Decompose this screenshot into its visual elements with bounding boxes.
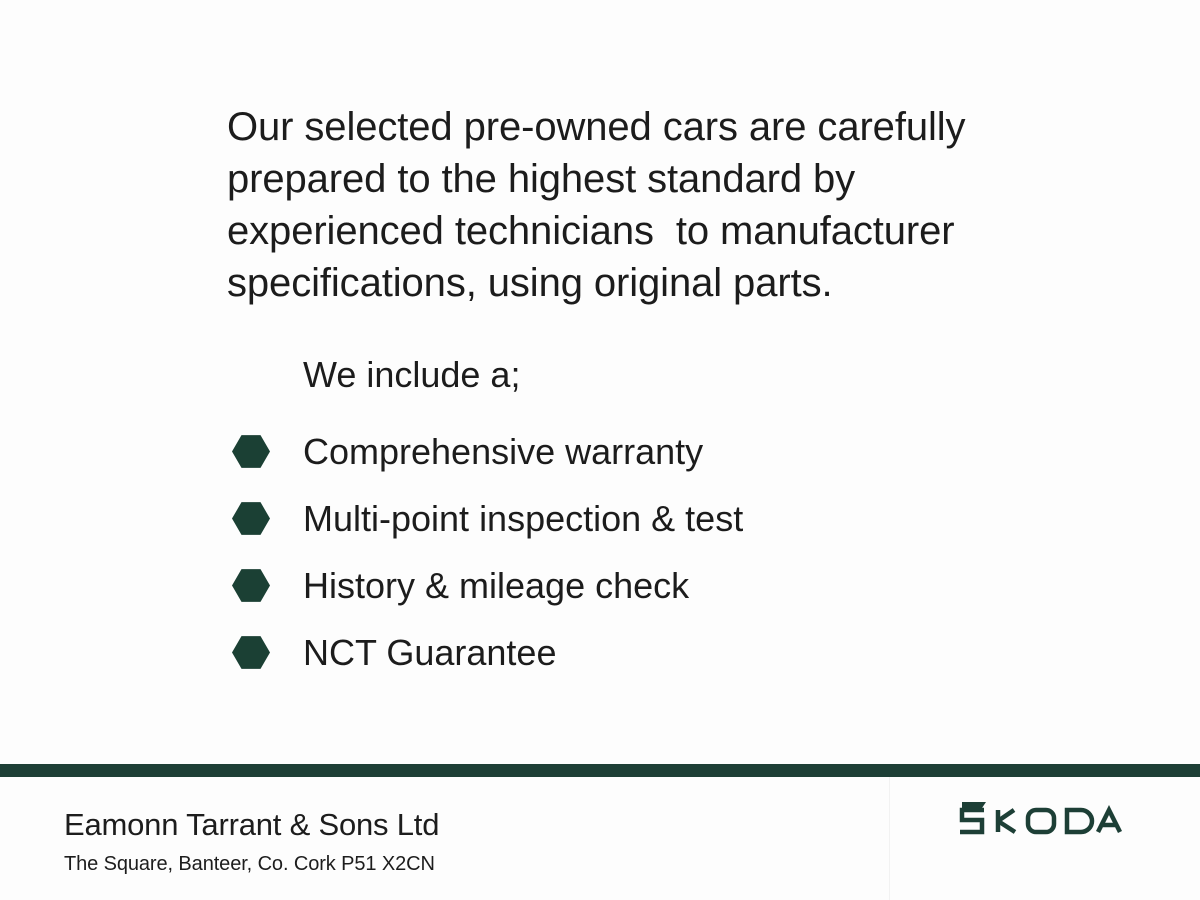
advert-page: Our selected pre-owned cars are carefull… — [0, 0, 1200, 900]
headline-line-4: specifications, using original parts. — [227, 257, 1017, 309]
footer-seam — [889, 777, 890, 900]
footer-divider — [0, 764, 1200, 777]
list-item-label: Multi-point inspection & test — [303, 497, 743, 541]
dealer-address: The Square, Banteer, Co. Cork P51 X2CN — [64, 851, 435, 877]
hexagon-bullet-icon — [232, 435, 270, 469]
dealer-name: Eamonn Tarrant & Sons Ltd — [64, 807, 439, 843]
headline-line-1: Our selected pre-owned cars are carefull… — [227, 101, 1017, 153]
main-content: Our selected pre-owned cars are carefull… — [0, 0, 1200, 766]
headline-line-2: prepared to the highest standard by — [227, 153, 1017, 205]
hexagon-bullet-icon — [232, 636, 270, 670]
features-list: Comprehensive warranty Multi-point inspe… — [232, 418, 992, 686]
list-item: Comprehensive warranty — [232, 418, 992, 485]
list-item-label: NCT Guarantee — [303, 631, 556, 675]
hexagon-bullet-icon — [232, 502, 270, 536]
list-item-label: Comprehensive warranty — [303, 430, 703, 474]
list-item: NCT Guarantee — [232, 619, 992, 686]
headline-paragraph: Our selected pre-owned cars are carefull… — [227, 101, 1017, 309]
list-item-label: History & mileage check — [303, 564, 689, 608]
list-item: Multi-point inspection & test — [232, 485, 992, 552]
hexagon-bullet-icon — [232, 569, 270, 603]
list-item: History & mileage check — [232, 552, 992, 619]
include-heading: We include a; — [303, 352, 520, 398]
headline-line-3: experienced technicians to manufacturer — [227, 205, 1017, 257]
skoda-wordmark-logo: SKODA — [955, 800, 1140, 844]
